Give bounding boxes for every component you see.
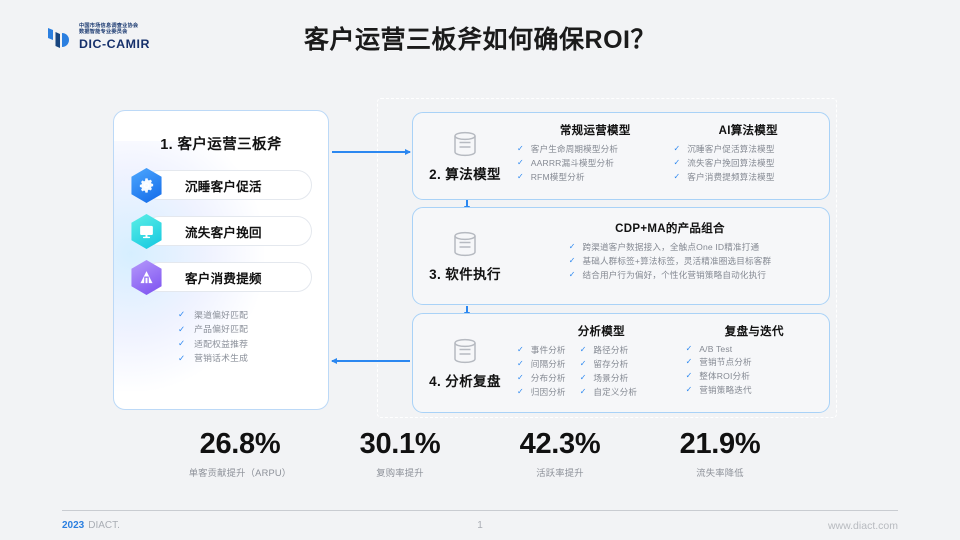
stat-value: 26.8% <box>160 428 320 460</box>
bullet-text: 结合用户行为偏好，个性化营销策略自动化执行 <box>582 269 766 281</box>
list-item: ✓场景分析 <box>580 372 637 384</box>
list-item: ✓整体ROI分析 <box>686 370 823 382</box>
database-icon <box>449 337 481 365</box>
list-item: ✓路径分析 <box>580 344 637 356</box>
list-item: ✓留存分析 <box>580 358 637 370</box>
footer-url[interactable]: www.diact.com <box>828 520 898 532</box>
check-icon: ✓ <box>569 257 576 265</box>
check-icon: ✓ <box>517 346 524 354</box>
page-header: 中国市场信息调查业协会 数据智能专业委员会 DIC-CAMIR 客户运营三板斧如… <box>0 0 960 86</box>
step-label: 2. 算法模型 <box>429 163 501 183</box>
left-card-title: 1. 客户运营三板斧 <box>114 133 328 154</box>
bullet-text: 路径分析 <box>593 344 628 356</box>
check-icon: ✓ <box>674 159 681 167</box>
three-axes-card: 1. 客户运营三板斧 沉睡客户促活 流失客户挽回 <box>113 110 329 410</box>
stat-arpu: 26.8% 单客贡献提升（ARPU） <box>160 428 320 479</box>
bullet-text: RFM模型分析 <box>531 171 585 183</box>
list-item: ✓客户消费提频算法模型 <box>674 171 823 183</box>
bullet-text: 整体ROI分析 <box>699 370 750 382</box>
column-heading: 常规运营模型 <box>517 122 674 138</box>
list-item: ✓结合用户行为偏好，个性化营销策略自动化执行 <box>569 269 772 281</box>
list-item: ✓沉睡客户促活算法模型 <box>674 143 823 155</box>
footer-copyright: 2023DIACT. <box>62 520 120 531</box>
bullet-list: ✓事件分析 ✓间隔分析 ✓分布分析 ✓归因分析 <box>517 344 566 398</box>
check-icon: ✓ <box>569 271 576 279</box>
check-icon: ✓ <box>686 386 693 394</box>
database-icon <box>449 130 481 158</box>
list-item: ✓归因分析 <box>517 386 566 398</box>
check-icon: ✓ <box>517 388 524 396</box>
database-icon <box>449 230 481 258</box>
bullet-text: 场景分析 <box>593 372 628 384</box>
step-card-header: 4. 分析复盘 <box>413 314 517 412</box>
bullet-text: 营销节点分析 <box>699 356 751 368</box>
list-item: ✓AARRR漏斗模型分析 <box>517 157 674 169</box>
page-title: 客户运营三板斧如何确保ROI？ <box>0 20 960 56</box>
step-card-content: 常规运营模型 ✓客户生命周期模型分析 ✓AARRR漏斗模型分析 ✓RFM模型分析… <box>517 113 823 199</box>
pill-label: 客户消费提频 <box>185 268 262 287</box>
bullet-text: A/B Test <box>699 344 732 354</box>
bullet-text: 渠道偏好匹配 <box>194 308 248 321</box>
list-item: ✓ 渠道偏好匹配 <box>178 308 328 321</box>
pill-dormant-activation[interactable]: 沉睡客户促活 <box>144 170 312 200</box>
pill-churn-winback[interactable]: 流失客户挽回 <box>144 216 312 246</box>
step-label: 4. 分析复盘 <box>429 370 501 390</box>
stat-churn: 21.9% 流失率降低 <box>640 428 800 479</box>
bullet-text: 沉睡客户促活算法模型 <box>687 143 774 155</box>
bullet-text: 流失客户挽回算法模型 <box>687 157 774 169</box>
list-item: ✓ 适配权益推荐 <box>178 337 328 350</box>
footer-divider <box>62 510 898 511</box>
bullet-columns: ✓事件分析 ✓间隔分析 ✓分布分析 ✓归因分析 ✓路径分析 ✓留存分析 ✓场景分… <box>517 344 686 398</box>
arrow-step4-to-left <box>332 360 410 362</box>
stat-value: 42.3% <box>480 428 640 460</box>
stat-repurchase: 30.1% 复购率提升 <box>320 428 480 479</box>
bullet-list: ✓沉睡客户促活算法模型 ✓流失客户挽回算法模型 ✓客户消费提频算法模型 <box>674 143 823 183</box>
list-item: ✓A/B Test <box>686 344 823 354</box>
check-icon: ✓ <box>178 354 185 363</box>
step-card-content: 分析模型 ✓事件分析 ✓间隔分析 ✓分布分析 ✓归因分析 ✓路径分析 ✓留存分析… <box>517 314 823 412</box>
bullet-text: 事件分析 <box>531 344 566 356</box>
arrow-left-to-step2 <box>332 151 410 153</box>
list-item: ✓跨渠道客户数据接入，全触点One ID精准打通 <box>569 241 772 253</box>
bullet-text: 自定义分析 <box>593 386 637 398</box>
check-icon: ✓ <box>686 345 693 353</box>
step-card-header: 2. 算法模型 <box>413 113 517 199</box>
bullet-list: ✓跨渠道客户数据接入，全触点One ID精准打通 ✓基础人群标签+算法标签，灵活… <box>569 241 772 281</box>
check-icon: ✓ <box>178 310 185 319</box>
stat-label: 复购率提升 <box>320 465 480 479</box>
three-axes-pill-list: 沉睡客户促活 流失客户挽回 客户消费提频 <box>114 170 328 292</box>
bullet-list: ✓A/B Test ✓营销节点分析 ✓整体ROI分析 ✓营销策略迭代 <box>686 344 823 396</box>
list-item: ✓流失客户挽回算法模型 <box>674 157 823 169</box>
stat-activity: 42.3% 活跃率提升 <box>480 428 640 479</box>
stat-value: 21.9% <box>640 428 800 460</box>
step-card-analysis-review: 4. 分析复盘 分析模型 ✓事件分析 ✓间隔分析 ✓分布分析 ✓归因分析 ✓路径… <box>412 313 830 413</box>
monitor-icon <box>129 214 164 249</box>
page-number: 1 <box>62 520 898 531</box>
bullet-text: 分布分析 <box>531 372 566 384</box>
list-item: ✓基础人群标签+算法标签，灵活精准圈选目标客群 <box>569 255 772 267</box>
pill-label: 沉睡客户促活 <box>185 176 262 195</box>
pill-spend-frequency[interactable]: 客户消费提频 <box>144 262 312 292</box>
bullet-text: 适配权益推荐 <box>194 337 248 350</box>
list-item: ✓RFM模型分析 <box>517 171 674 183</box>
bullet-text: 基础人群标签+算法标签，灵活精准圈选目标客群 <box>582 255 771 267</box>
check-icon: ✓ <box>517 360 524 368</box>
content-column: AI算法模型 ✓沉睡客户促活算法模型 ✓流失客户挽回算法模型 ✓客户消费提频算法… <box>674 122 823 199</box>
bullet-text: 营销策略迭代 <box>699 384 751 396</box>
bullet-text: 留存分析 <box>593 358 628 370</box>
bullet-text: 客户生命周期模型分析 <box>531 143 618 155</box>
list-item: ✓营销策略迭代 <box>686 384 823 396</box>
building-growth-icon <box>129 260 164 295</box>
check-icon: ✓ <box>580 360 587 368</box>
gear-icon <box>129 168 164 203</box>
bullet-text: 归因分析 <box>531 386 566 398</box>
footer-year: 2023 <box>62 520 84 531</box>
check-icon: ✓ <box>674 145 681 153</box>
arrow-step2-to-step3 <box>466 200 468 207</box>
left-card-bullets: ✓ 渠道偏好匹配 ✓ 产品偏好匹配 ✓ 适配权益推荐 ✓ 营销话术生成 <box>114 308 328 364</box>
content-column: 复盘与迭代 ✓A/B Test ✓营销节点分析 ✓整体ROI分析 ✓营销策略迭代 <box>686 323 823 412</box>
column-heading: AI算法模型 <box>674 122 823 138</box>
check-icon: ✓ <box>686 372 693 380</box>
check-icon: ✓ <box>580 388 587 396</box>
bullet-text: 间隔分析 <box>531 358 566 370</box>
check-icon: ✓ <box>178 339 185 348</box>
list-item: ✓客户生命周期模型分析 <box>517 143 674 155</box>
check-icon: ✓ <box>674 173 681 181</box>
bullet-list: ✓客户生命周期模型分析 ✓AARRR漏斗模型分析 ✓RFM模型分析 <box>517 143 674 183</box>
step-card-content: CDP+MA的产品组合 ✓跨渠道客户数据接入，全触点One ID精准打通 ✓基础… <box>517 208 823 304</box>
bullet-text: 客户消费提频算法模型 <box>687 171 774 183</box>
column-heading: CDP+MA的产品组合 <box>615 220 725 236</box>
list-item: ✓间隔分析 <box>517 358 566 370</box>
check-icon: ✓ <box>178 325 185 334</box>
list-item: ✓ 产品偏好匹配 <box>178 323 328 336</box>
check-icon: ✓ <box>569 243 576 251</box>
check-icon: ✓ <box>517 173 524 181</box>
list-item: ✓ 营销话术生成 <box>178 352 328 365</box>
bullet-list: ✓路径分析 ✓留存分析 ✓场景分析 ✓自定义分析 <box>580 344 637 398</box>
bullet-text: 产品偏好匹配 <box>194 322 248 335</box>
bullet-text: 跨渠道客户数据接入，全触点One ID精准打通 <box>582 241 759 253</box>
list-item: ✓分布分析 <box>517 372 566 384</box>
stat-label: 活跃率提升 <box>480 465 640 479</box>
stat-label: 流失率降低 <box>640 465 800 479</box>
kpi-stats-row: 26.8% 单客贡献提升（ARPU） 30.1% 复购率提升 42.3% 活跃率… <box>160 428 800 479</box>
content-column: 分析模型 ✓事件分析 ✓间隔分析 ✓分布分析 ✓归因分析 ✓路径分析 ✓留存分析… <box>517 323 686 412</box>
column-heading: 分析模型 <box>517 323 686 339</box>
bullet-text: AARRR漏斗模型分析 <box>531 157 614 169</box>
check-icon: ✓ <box>517 159 524 167</box>
stat-label: 单客贡献提升（ARPU） <box>160 465 320 479</box>
check-icon: ✓ <box>686 358 693 366</box>
column-heading: 复盘与迭代 <box>686 323 823 339</box>
list-item: ✓营销节点分析 <box>686 356 823 368</box>
list-item: ✓自定义分析 <box>580 386 637 398</box>
step-card-software-execution: 3. 软件执行 CDP+MA的产品组合 ✓跨渠道客户数据接入，全触点One ID… <box>412 207 830 305</box>
check-icon: ✓ <box>517 374 524 382</box>
list-item: ✓事件分析 <box>517 344 566 356</box>
check-icon: ✓ <box>580 374 587 382</box>
step-card-algorithm-model: 2. 算法模型 常规运营模型 ✓客户生命周期模型分析 ✓AARRR漏斗模型分析 … <box>412 112 830 200</box>
bullet-text: 营销话术生成 <box>194 351 248 364</box>
pill-label: 流失客户挽回 <box>185 222 262 241</box>
check-icon: ✓ <box>517 145 524 153</box>
arrow-step3-to-step4 <box>466 306 468 313</box>
step-label: 3. 软件执行 <box>429 263 501 283</box>
footer-brand: DIACT. <box>88 520 120 531</box>
check-icon: ✓ <box>580 346 587 354</box>
content-column: 常规运营模型 ✓客户生命周期模型分析 ✓AARRR漏斗模型分析 ✓RFM模型分析 <box>517 122 674 199</box>
stat-value: 30.1% <box>320 428 480 460</box>
step-card-header: 3. 软件执行 <box>413 208 517 304</box>
page-footer: 1 2023DIACT. www.diact.com <box>62 520 898 538</box>
